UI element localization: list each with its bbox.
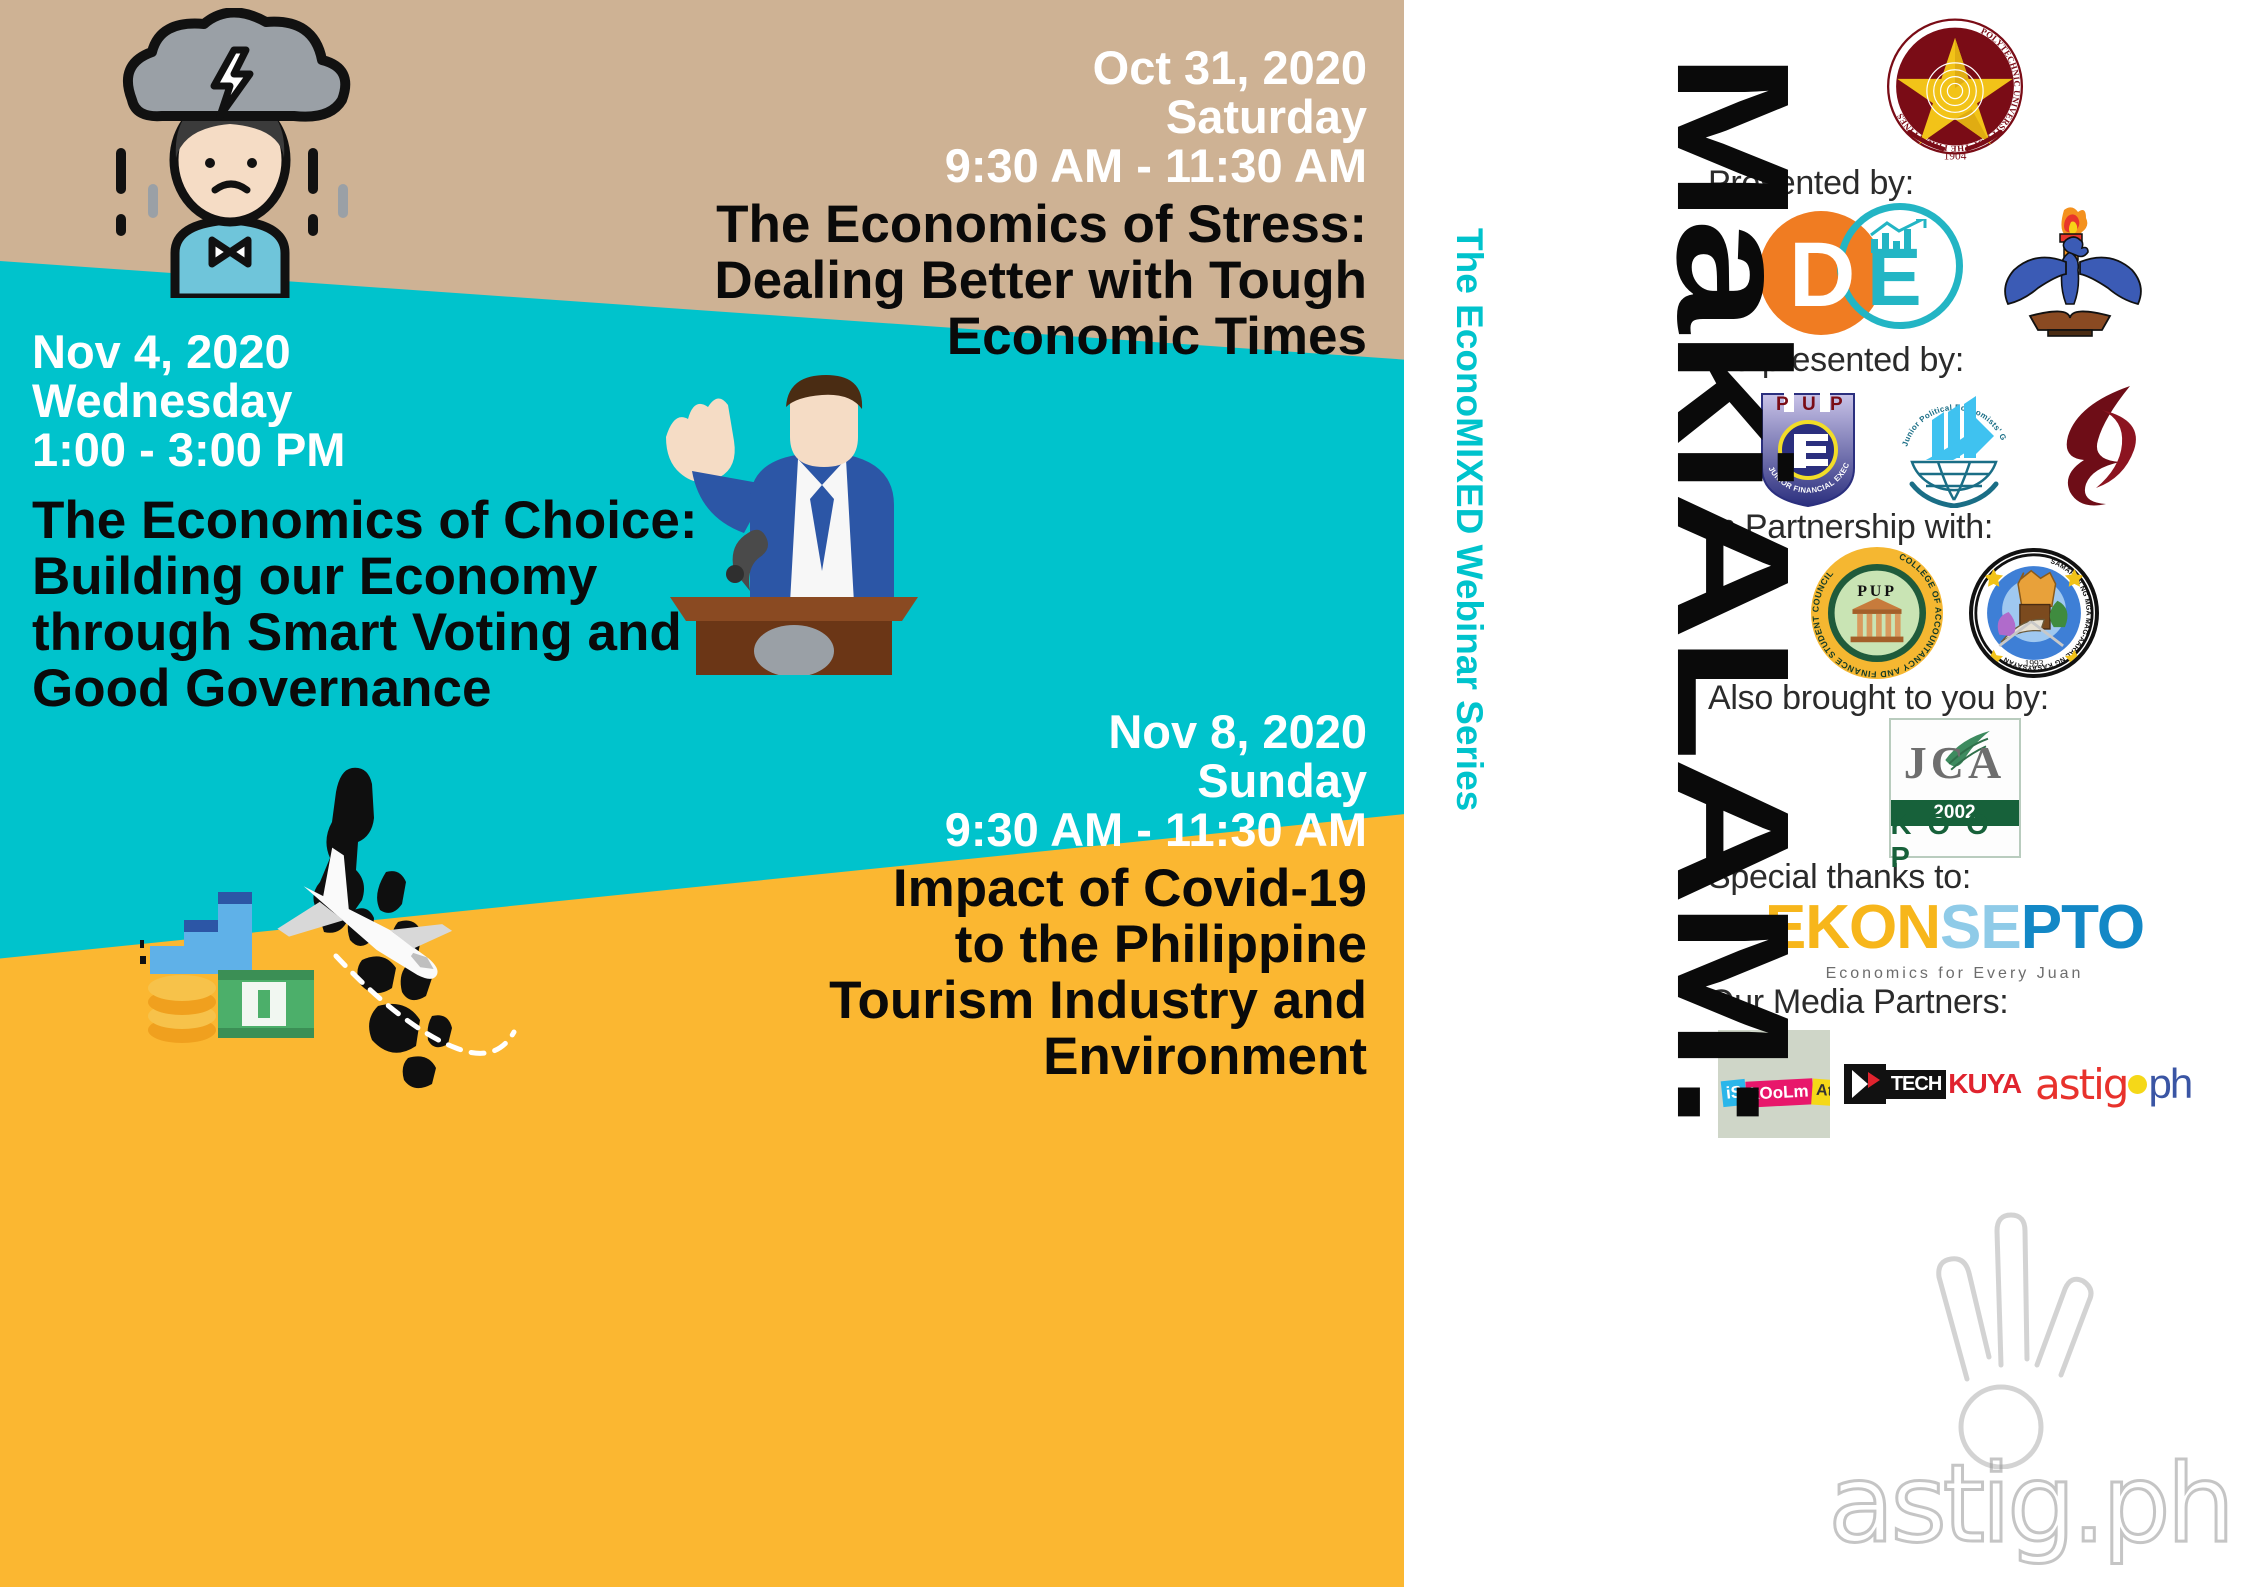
session-1-date: Oct 31, 2020 [507,44,1367,93]
techkuya-part-1: TECH [1886,1070,1946,1099]
junior-political-economists-guild-logo: Junior Political Economists' Guild [1888,380,2020,508]
session-3-date: Nov 8, 2020 [507,708,1367,757]
maroon-s-emblem-logo [2046,380,2156,508]
session-3-title-line-2: to the Philippine [507,917,1367,973]
poster-title: MakiALAM: [1667,52,1798,1132]
pup-eagle-torch-crest-icon [1990,206,2150,338]
philippines-map-airplane-money-illustration [140,760,520,1090]
session-3-title-line-1: Impact of Covid-19 [507,861,1367,917]
astig-ph-word: ph [2148,1060,2191,1108]
jca-mark-area: JCA [1891,720,2019,800]
svg-text:1904: 1904 [1943,150,1966,162]
techkuya-part-2: KUYA [1948,1068,2021,1100]
stressed-person-rain-cloud-illustration [80,8,380,298]
jca-letters: JCA [1891,736,2019,789]
session-2-time: 1:00 - 3:00 PM [32,426,862,475]
session-1-time: 9:30 AM - 11:30 AM [507,142,1367,191]
session-2-title-line-3: through Smart Voting and [32,605,862,661]
session-1-day: Saturday [507,93,1367,142]
svg-text:PUP: PUP [1857,583,1897,600]
session-block-1: Oct 31, 2020 Saturday 9:30 AM - 11:30 AM… [507,44,1367,365]
pup-cafsc-logo: COLLEGE OF ACCOUNTANCY AND FINANCE STUDE… [1811,547,1943,679]
session-3-title-line-4: Environment [507,1029,1367,1085]
vertical-title-column: The EconoMIXED Webinar Series MakiALAM: [1404,0,1664,1587]
astig-ph-logo: astig ph [2035,1060,2191,1109]
session-1-title-line-1: The Economics of Stress: [507,197,1367,253]
session-3-time: 9:30 AM - 11:30 AM [507,806,1367,855]
ekonsepto-part-3: PTO [2021,893,2144,962]
techkuya-logo: TECH KUYA [1844,1064,2021,1104]
pup-university-seal-icon: POLYTECHNIC UNIVERSITY OF THE PHILIPPINE… [1879,12,2031,164]
webinar-poster: Oct 31, 2020 Saturday 9:30 AM - 11:30 AM… [0,0,2245,1587]
session-block-2: Nov 4, 2020 Wednesday 1:00 - 3:00 PM The… [32,328,862,717]
session-1-title-line-2: Dealing Better with Tough [507,253,1367,309]
jca-koop-logo: JCA 2002 K O O P [1889,718,2021,858]
session-block-3: Nov 8, 2020 Sunday 9:30 AM - 11:30 AM Im… [507,708,1367,1085]
svg-text:1993: 1993 [2024,659,2043,669]
session-2-date: Nov 4, 2020 [32,328,862,377]
astig-sun-dot-icon [2128,1075,2147,1094]
techkuya-arrow-icon [1844,1064,1886,1104]
poster-title-wrapper: MakiALAM: [1450,52,1630,1252]
session-3-day: Sunday [507,757,1367,806]
ekonsepto-part-2: SE [1940,893,2021,962]
session-2-day: Wednesday [32,377,862,426]
samahan-ng-kasaysayan-logo: SAMAHAN NG MGA MAG-AARAL NG KASAYSAYAN 1… [1969,548,2099,678]
session-2-title-line-2: Building our Economy [32,549,862,605]
sessions-panel: Oct 31, 2020 Saturday 9:30 AM - 11:30 AM… [0,0,1404,1587]
session-3-title-line-3: Tourism Industry and [507,973,1367,1029]
astig-word: astig [2035,1060,2127,1109]
session-2-title-line-1: The Economics of Choice: [32,493,862,549]
session-3-title: Impact of Covid-19 to the Philippine Tou… [507,861,1367,1086]
jca-koop-word: K O O P [1891,826,2019,858]
session-2-title: The Economics of Choice: Building our Ec… [32,493,862,718]
svg-text:P: P [1830,394,1843,415]
growth-chart-icon [1869,219,1929,253]
